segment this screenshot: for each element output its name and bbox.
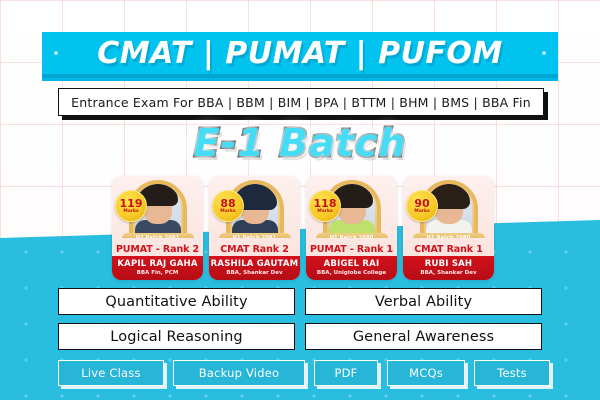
student-rank: PUMAT - Rank 2	[112, 244, 203, 255]
marks-value: 90	[414, 198, 429, 209]
marks-value: 88	[220, 198, 235, 209]
marks-badge: 118 Marks	[309, 190, 341, 222]
student-card[interactable]: 88 Marks H1 Batch 2081 CMAT Rank 2 RASHI…	[209, 176, 300, 280]
student-rank: PUMAT - Rank 1	[306, 244, 397, 255]
marks-value: 118	[314, 198, 337, 209]
student-name: RASHILA GAUTAM	[211, 260, 299, 269]
student-name-bar: RASHILA GAUTAM BBA, Shankar Dev	[209, 256, 300, 280]
marks-label: Marks	[220, 210, 235, 215]
marks-label: Marks	[123, 210, 138, 215]
student-name: ABIGEL RAI	[324, 260, 380, 269]
batch-ribbon-label: H1 Batch 2081	[233, 235, 277, 238]
student-card[interactable]: 119 Marks H2 Batch 2081 PUMAT - Rank 2 K…	[112, 176, 203, 280]
title-block: CMAT | PUMAT | PUFOM	[42, 32, 558, 74]
student-college: BBA, Uniglobe College	[317, 271, 386, 277]
subject-label: Quantitative Ability	[105, 294, 247, 310]
marks-badge: 90 Marks	[406, 190, 438, 222]
batch-ribbon: H1 Batch 2080	[316, 233, 388, 238]
batch-ribbon-label: H1 Batch 2080	[330, 235, 374, 238]
student-photo: 90 Marks H1 Batch 2080	[403, 176, 494, 238]
action-label: Backup Video	[199, 366, 279, 380]
student-name: RUBI SAH	[425, 260, 472, 269]
batch-ribbon-label: H1 Batch 2080	[427, 235, 471, 238]
student-photo: 88 Marks H1 Batch 2081	[209, 176, 300, 238]
tests-button[interactable]: Tests	[474, 360, 550, 386]
student-name-bar: ABIGEL RAI BBA, Uniglobe College	[306, 256, 397, 280]
pdf-button[interactable]: PDF	[314, 360, 378, 386]
student-rank: CMAT Rank 2	[209, 244, 300, 255]
batch-ribbon-label: H2 Batch 2081	[136, 235, 180, 238]
backup-video-button[interactable]: Backup Video	[173, 360, 305, 386]
batch-headline: E-1 Batch	[0, 121, 600, 165]
student-photo: 119 Marks H2 Batch 2081	[112, 176, 203, 238]
batch-ribbon: H2 Batch 2081	[122, 233, 194, 238]
subjects-grid: Quantitative Ability Verbal Ability Logi…	[58, 288, 542, 350]
student-college: BBA, Shankar Dev	[420, 271, 476, 277]
action-label: MCQs	[409, 366, 443, 380]
student-name-bar: RUBI SAH BBA, Shankar Dev	[403, 256, 494, 280]
features-row: Live Class Backup Video PDF MCQs Tests	[58, 360, 542, 386]
subject-label: Logical Reasoning	[110, 329, 242, 345]
student-rank: CMAT Rank 1	[403, 244, 494, 255]
student-name: KAPIL RAJ GAHA	[117, 260, 197, 269]
marks-badge: 119 Marks	[115, 190, 147, 222]
student-name-bar: KAPIL RAJ GAHA BBA Fin, PCM	[112, 256, 203, 280]
action-label: PDF	[334, 366, 357, 380]
banner-title: CMAT | PUMAT | PUFOM	[97, 36, 503, 71]
subject-logical-reasoning[interactable]: Logical Reasoning	[58, 323, 295, 350]
subject-verbal-ability[interactable]: Verbal Ability	[305, 288, 542, 315]
bullet-dot-left-icon	[54, 51, 58, 55]
student-card[interactable]: 90 Marks H1 Batch 2080 CMAT Rank 1 RUBI …	[403, 176, 494, 280]
toppers-list: 119 Marks H2 Batch 2081 PUMAT - Rank 2 K…	[112, 176, 494, 280]
subject-label: General Awareness	[353, 329, 494, 345]
mcqs-button[interactable]: MCQs	[387, 360, 465, 386]
subject-general-awareness[interactable]: General Awareness	[305, 323, 542, 350]
subject-quantitative-ability[interactable]: Quantitative Ability	[58, 288, 295, 315]
student-college: BBA, Shankar Dev	[226, 271, 282, 277]
title-bar: CMAT | PUMAT | PUFOM	[42, 32, 558, 74]
student-college: BBA Fin, PCM	[137, 271, 179, 277]
action-label: Live Class	[81, 366, 140, 380]
bullet-dot-right-icon	[542, 51, 546, 55]
marks-badge: 88 Marks	[212, 190, 244, 222]
promo-banner: CMAT | PUMAT | PUFOM Entrance Exam For B…	[0, 0, 600, 400]
subtitle-box: Entrance Exam For BBA | BBM | BIM | BPA …	[58, 88, 544, 116]
marks-label: Marks	[414, 210, 429, 215]
student-photo: 118 Marks H1 Batch 2080	[306, 176, 397, 238]
subtitle-text: Entrance Exam For BBA | BBM | BIM | BPA …	[71, 95, 531, 110]
student-card[interactable]: 118 Marks H1 Batch 2080 PUMAT - Rank 1 A…	[306, 176, 397, 280]
batch-ribbon: H1 Batch 2081	[219, 233, 291, 238]
live-class-button[interactable]: Live Class	[58, 360, 164, 386]
marks-value: 119	[120, 198, 143, 209]
batch-ribbon: H1 Batch 2080	[413, 233, 485, 238]
marks-label: Marks	[317, 210, 332, 215]
subject-label: Verbal Ability	[375, 294, 472, 310]
action-label: Tests	[497, 366, 527, 380]
